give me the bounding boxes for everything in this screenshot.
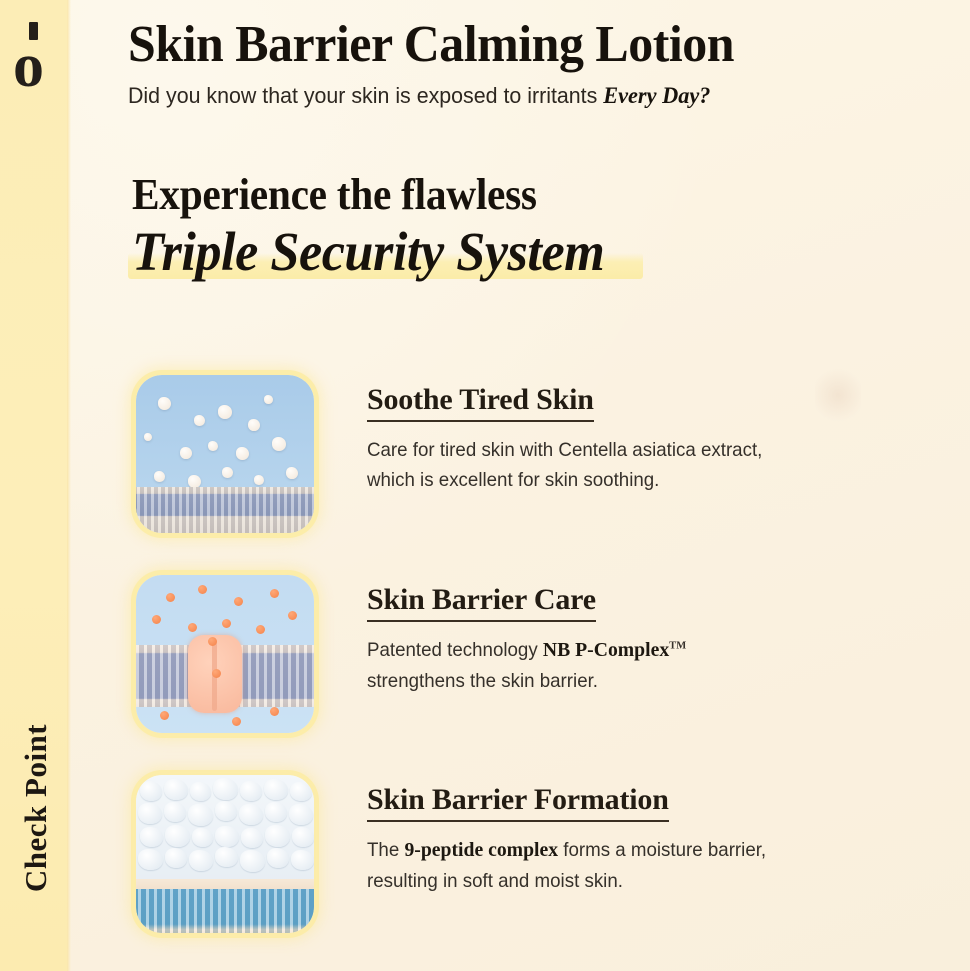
- feature-text: Skin Barrier Care Patented technology NB…: [367, 575, 797, 697]
- skin-barrier-formation-illustration: [136, 775, 314, 933]
- feature-body: The 9-peptide complex forms a moisture b…: [367, 835, 780, 897]
- feature-body-before: Patented technology: [367, 639, 543, 661]
- check-point-label: Check Point: [18, 688, 54, 928]
- feature-body-strong: 9-peptide complex: [404, 839, 558, 861]
- feature-body-strong: NB P-Complex: [543, 639, 669, 661]
- feature-item: Skin Barrier Formation The 9-peptide com…: [136, 775, 797, 933]
- page-subtitle: Did you know that your skin is exposed t…: [128, 82, 907, 110]
- background-watermark: [815, 365, 861, 425]
- rail-edge: [67, 0, 71, 971]
- feature-title: Soothe Tired Skin: [367, 383, 594, 422]
- soothe-tired-skin-illustration: [136, 375, 314, 533]
- promo-page: o Check Point Skin Barrier Calming Lotio…: [0, 0, 970, 971]
- feature-body: Care for tired skin with Centella asiati…: [367, 435, 780, 495]
- feature-text: Soothe Tired Skin Care for tired skin wi…: [367, 375, 797, 495]
- brand-logo: o: [8, 22, 58, 94]
- feature-item: Soothe Tired Skin Care for tired skin wi…: [136, 375, 797, 533]
- section-heading-line1: Experience the flawless: [132, 170, 846, 220]
- page-title: Skin Barrier Calming Lotion: [128, 17, 896, 72]
- feature-title: Skin Barrier Care: [367, 583, 596, 622]
- feature-body-before: The: [367, 839, 404, 861]
- subtitle-plain: Did you know that your skin is exposed t…: [128, 83, 603, 108]
- skin-barrier-care-illustration: [136, 575, 314, 733]
- subtitle-emphasis: Every Day?: [603, 83, 710, 109]
- section-heading-line2: Triple Security System: [132, 222, 604, 283]
- trademark-mark: TM: [669, 639, 686, 651]
- feature-title: Skin Barrier Formation: [367, 783, 669, 822]
- section-heading-line2-wrap: Triple Security System: [132, 222, 629, 283]
- logo-letter: o: [13, 44, 43, 89]
- feature-text: Skin Barrier Formation The 9-peptide com…: [367, 775, 797, 897]
- feature-body-text: Care for tired skin with Centella asiati…: [367, 439, 762, 491]
- section-heading: Experience the flawless Triple Security …: [132, 170, 892, 283]
- feature-item: Skin Barrier Care Patented technology NB…: [136, 575, 797, 733]
- feature-body: Patented technology NB P-ComplexTM stren…: [367, 635, 780, 697]
- feature-body-after: strengthens the skin barrier.: [367, 670, 598, 692]
